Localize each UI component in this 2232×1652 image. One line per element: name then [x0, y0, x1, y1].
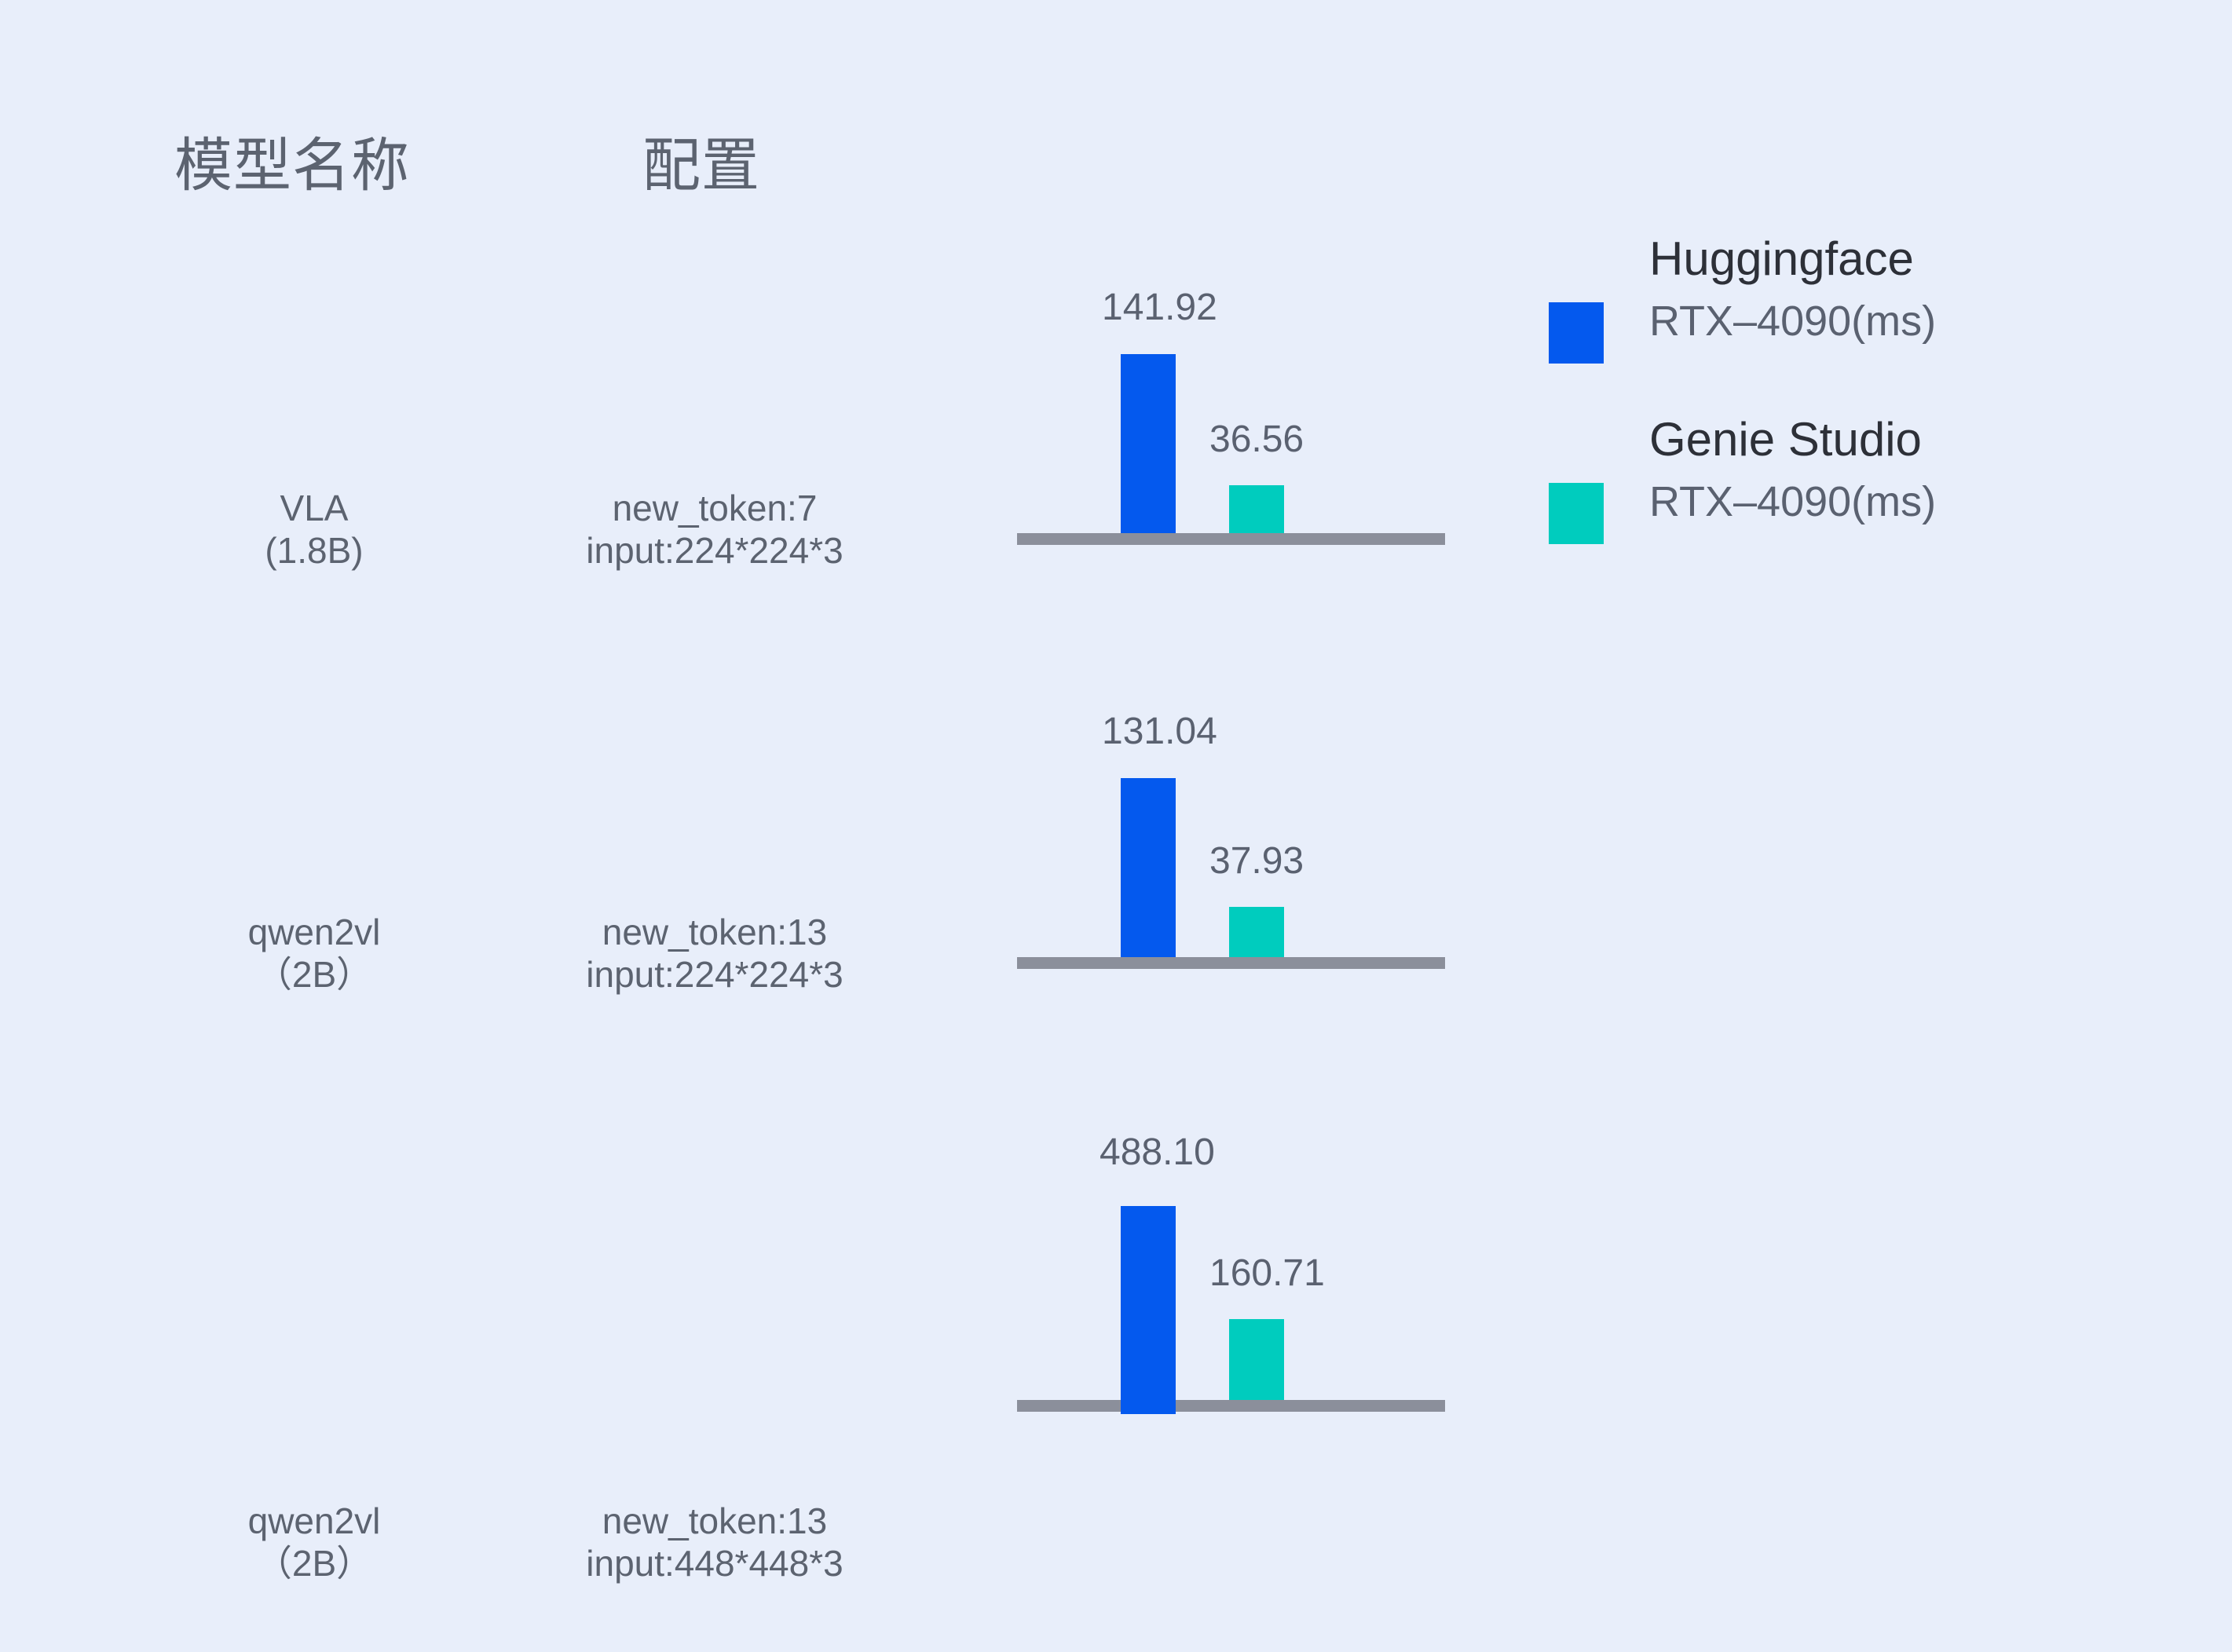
bar-value-genie-studio: 37.93: [1209, 842, 1304, 880]
chart-plot-area: 141.92 36.56: [1017, 234, 1445, 540]
legend-title: Genie Studio: [1649, 416, 2152, 463]
blue-square-swatch-icon: [1549, 302, 1604, 364]
config-line-1: new_token:13: [487, 1500, 942, 1542]
config-line-2: input:448*448*3: [487, 1542, 942, 1584]
bar-value-huggingface: 131.04: [1102, 713, 1217, 751]
config-cell: new_token:13 input:448*448*3: [487, 1500, 942, 1585]
column-header-model-name: 模型名称: [174, 137, 410, 195]
bar-genie-studio: [1229, 907, 1284, 964]
config-cell: new_token:13 input:224*224*3: [487, 911, 942, 996]
chart-plot-area: 131.04 37.93: [1017, 658, 1445, 964]
legend-title: Huggingface: [1649, 236, 2152, 283]
config-line-2: input:224*224*3: [487, 953, 942, 996]
row-bar-chart: 141.92 36.56: [1017, 236, 1445, 660]
chart-baseline: [1017, 533, 1445, 545]
model-name-line-2: (1.8B): [173, 529, 456, 572]
config-cell: new_token:7 input:224*224*3: [487, 487, 942, 572]
legend-item-huggingface: Huggingface RTX–4090(ms): [1546, 236, 2158, 416]
bar-value-genie-studio: 160.71: [1209, 1255, 1325, 1292]
chart-plot-area: 488.10 160.71: [1017, 1077, 1445, 1407]
row-bar-chart: 488.10 160.71: [1017, 1084, 1445, 1508]
model-name-line-1: qwen2vl: [173, 911, 456, 953]
bar-huggingface: [1121, 354, 1176, 540]
model-name-cell: qwen2vl （2B）: [173, 911, 456, 996]
chart-baseline: [1017, 1400, 1445, 1412]
bar-value-huggingface: 141.92: [1102, 289, 1217, 327]
model-name-line-2: （2B）: [173, 953, 456, 996]
table-row: qwen2vl （2B） new_token:13 input:448*448*…: [0, 1084, 2232, 1508]
legend-subtitle: RTX–4090(ms): [1649, 481, 2152, 523]
chart-legend: Huggingface RTX–4090(ms) Genie Studio RT…: [1546, 236, 2158, 597]
teal-square-swatch-icon: [1549, 483, 1604, 544]
model-name-cell: VLA (1.8B): [173, 487, 456, 572]
legend-text-group: Huggingface RTX–4090(ms): [1649, 236, 2152, 342]
column-headers: 模型名称 配置: [0, 126, 2232, 220]
column-header-config: 配置: [642, 137, 760, 195]
legend-item-genie-studio: Genie Studio RTX–4090(ms): [1546, 416, 2158, 597]
model-name-line-1: qwen2vl: [173, 1500, 456, 1542]
bar-genie-studio: [1229, 1319, 1284, 1407]
model-name-cell: qwen2vl （2B）: [173, 1500, 456, 1585]
table-row: qwen2vl （2B） new_token:13 input:224*224*…: [0, 660, 2232, 1084]
bar-value-huggingface: 488.10: [1100, 1134, 1215, 1171]
model-name-line-2: （2B）: [173, 1542, 456, 1584]
bar-genie-studio: [1229, 485, 1284, 540]
row-bar-chart: 131.04 37.93: [1017, 660, 1445, 1084]
chart-baseline: [1017, 957, 1445, 969]
bar-value-genie-studio: 36.56: [1209, 421, 1304, 459]
bar-huggingface: [1121, 1206, 1176, 1414]
config-line-1: new_token:13: [487, 911, 942, 953]
legend-text-group: Genie Studio RTX–4090(ms): [1649, 416, 2152, 523]
config-line-1: new_token:7: [487, 487, 942, 529]
bar-huggingface: [1121, 778, 1176, 964]
config-line-2: input:224*224*3: [487, 529, 942, 572]
legend-subtitle: RTX–4090(ms): [1649, 300, 2152, 342]
model-name-line-1: VLA: [173, 487, 456, 529]
